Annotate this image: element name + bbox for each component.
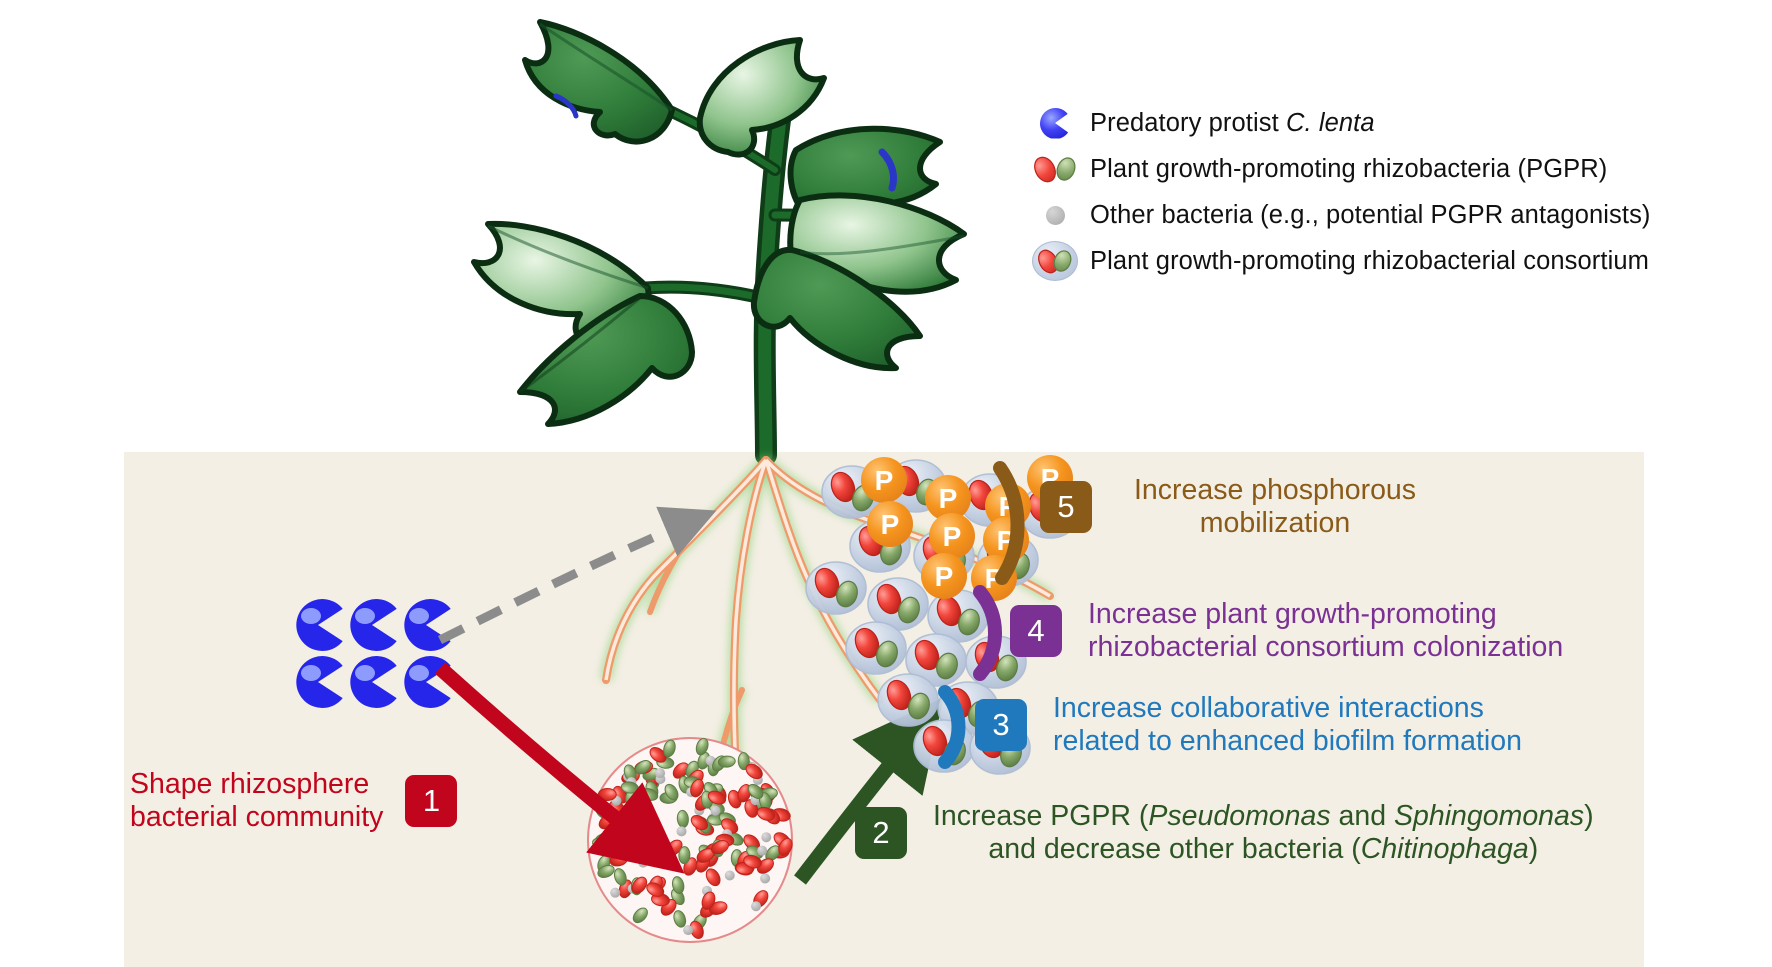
legend-label-other-bacteria: Other bacteria (e.g., potential PGPR ant…	[1090, 201, 1651, 230]
annotation-2: 2 Increase PGPR (Pseudomonas and Sphingo…	[855, 800, 1594, 866]
annotation-4-line-1: Increase plant growth-promoting	[1088, 598, 1563, 631]
annotation-5-line-2: mobilization	[1134, 507, 1416, 540]
legend-item-other-bacteria: Other bacteria (e.g., potential PGPR ant…	[1020, 192, 1710, 238]
legend: Predatory protist C. lenta Plant growth-…	[1020, 100, 1710, 284]
rhizosphere-bacterial-community-circle	[588, 737, 795, 942]
annotation-5-number: 5	[1040, 481, 1092, 533]
figure-canvas: PPPPPPPPP Predatory protist C. lenta Pla…	[0, 0, 1772, 967]
red-solid-arrow	[440, 668, 640, 838]
protist-cluster	[296, 599, 450, 708]
tomato-plant	[474, 22, 964, 455]
svg-text:P: P	[935, 561, 954, 592]
annotation-3-number: 3	[975, 699, 1027, 751]
annotation-5: 5 Increase phosphorous mobilization	[1040, 474, 1416, 540]
consortium-bubble-icon	[1020, 241, 1090, 281]
svg-text:P: P	[939, 483, 958, 514]
legend-label-consortium: Plant growth-promoting rhizobacterial co…	[1090, 247, 1649, 276]
annotation-2-line-2: and decrease other bacteria (Chitinophag…	[933, 833, 1594, 866]
annotation-5-line-1: Increase phosphorous	[1134, 474, 1416, 507]
legend-label-pgpr: Plant growth-promoting rhizobacteria (PG…	[1090, 155, 1607, 184]
annotation-1-line-2: bacterial community	[130, 801, 383, 834]
legend-item-consortium: Plant growth-promoting rhizobacterial co…	[1020, 238, 1710, 284]
annotation-1: 1 Shape rhizosphere bacterial community	[130, 768, 457, 834]
svg-text:P: P	[875, 465, 894, 496]
annotation-1-number: 1	[405, 775, 457, 827]
svg-text:P: P	[943, 521, 962, 552]
annotation-4-line-2: rhizobacterial consortium colonization	[1088, 631, 1563, 664]
protist-pacman-icon	[1020, 103, 1090, 143]
legend-label-protist: Predatory protist	[1090, 109, 1286, 137]
other-bacteria-grey-dot-icon	[1020, 195, 1090, 235]
annotation-1-line-1: Shape rhizosphere	[130, 768, 383, 801]
purple-bracket	[980, 592, 995, 674]
annotation-4-number: 4	[1010, 605, 1062, 657]
annotation-3-line-1: Increase collaborative interactions	[1053, 692, 1522, 725]
pgpr-bacteria-pair-icon	[1020, 149, 1090, 189]
annotation-3: 3 Increase collaborative interactions re…	[975, 692, 1522, 758]
legend-item-protist: Predatory protist C. lenta	[1020, 100, 1710, 146]
annotation-4: 4 Increase plant growth-promoting rhizob…	[1010, 598, 1563, 664]
svg-text:P: P	[881, 509, 900, 540]
annotation-2-number: 2	[855, 807, 907, 859]
annotation-3-line-2: related to enhanced biofilm formation	[1053, 725, 1522, 758]
legend-label-protist-species: C. lenta	[1286, 109, 1375, 137]
annotation-2-line-1: Increase PGPR (Pseudomonas and Sphingomo…	[933, 800, 1594, 833]
legend-item-pgpr: Plant growth-promoting rhizobacteria (PG…	[1020, 146, 1710, 192]
